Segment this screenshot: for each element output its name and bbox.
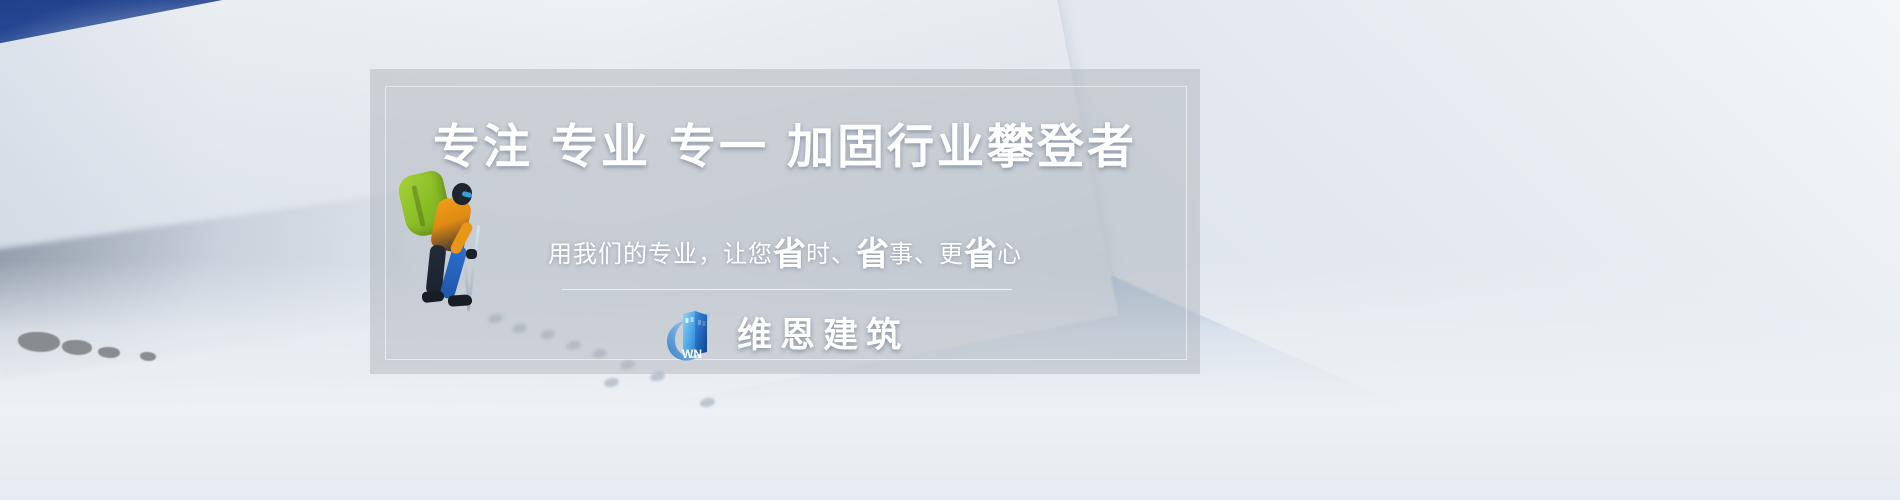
subline-suffix: 心: [997, 241, 1022, 268]
rock-outcrop: [140, 352, 156, 361]
rock-outcrop: [98, 347, 120, 358]
logo-lockup: WN 维恩建筑: [370, 307, 1200, 363]
headline-segment-4: 加固行业攀登者: [787, 120, 1137, 173]
subline-emphasis-sheng-2: 省: [856, 235, 889, 272]
banner-headline: 专注专业专一加固行业攀登者: [370, 123, 1200, 170]
headline-segment-2: 专业: [551, 120, 651, 173]
banner-content: 专注专业专一加固行业攀登者 用我们的专业，让您省时、省事、更省心: [370, 69, 1200, 374]
section-divider: [562, 289, 1012, 290]
subline-emphasis-sheng-3: 省: [964, 235, 997, 272]
rock-outcrop: [62, 340, 92, 355]
wn-monogram-logo-icon: WN: [661, 307, 723, 363]
logo-letters: WN: [682, 347, 702, 361]
headline-segment-1: 专注: [433, 120, 533, 173]
hero-banner: 专注专业专一加固行业攀登者 用我们的专业，让您省时、省事、更省心: [0, 0, 1900, 500]
subline-mid-2: 事、更: [889, 241, 964, 268]
banner-subline: 用我们的专业，让您省时、省事、更省心: [370, 237, 1200, 270]
headline-segment-3: 专一: [669, 120, 769, 173]
subline-prefix: 用我们的专业，让您: [548, 241, 773, 268]
subline-emphasis-sheng-1: 省: [773, 235, 806, 272]
subline-mid-1: 时、: [806, 241, 856, 268]
company-name: 维恩建筑: [737, 318, 909, 353]
